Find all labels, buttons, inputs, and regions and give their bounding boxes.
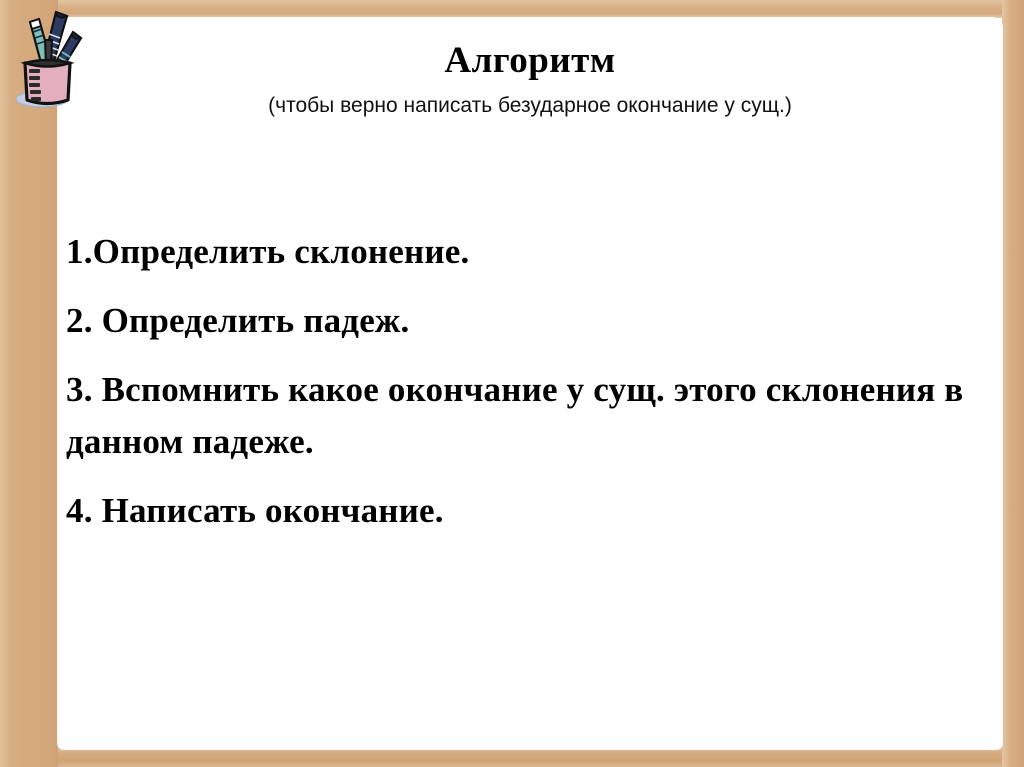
list-item: 1.Определить склонение. xyxy=(66,226,990,278)
frame-border-right xyxy=(1002,0,1024,767)
page-title: Алгоритм xyxy=(58,38,1002,84)
algorithm-step-list: 1.Определить склонение. 2. Определить па… xyxy=(66,226,990,537)
list-item: 4. Написать окончание. xyxy=(66,485,990,537)
frame-border-top xyxy=(0,0,1024,18)
slide-canvas: Алгоритм (чтобы верно написать безударно… xyxy=(0,0,1024,767)
list-item: 2. Определить падеж. xyxy=(66,295,990,347)
cup-body xyxy=(25,60,70,104)
slide-content-area: Алгоритм (чтобы верно написать безударно… xyxy=(58,18,1002,749)
list-item: 3. Вспомнить какое окончание у сущ. этог… xyxy=(66,364,990,468)
pencil-cup-icon xyxy=(12,6,88,118)
frame-border-bottom xyxy=(0,747,1024,767)
page-subtitle: (чтобы верно написать безударное окончан… xyxy=(58,92,1002,120)
slide-header: Алгоритм (чтобы верно написать безударно… xyxy=(58,38,1002,120)
